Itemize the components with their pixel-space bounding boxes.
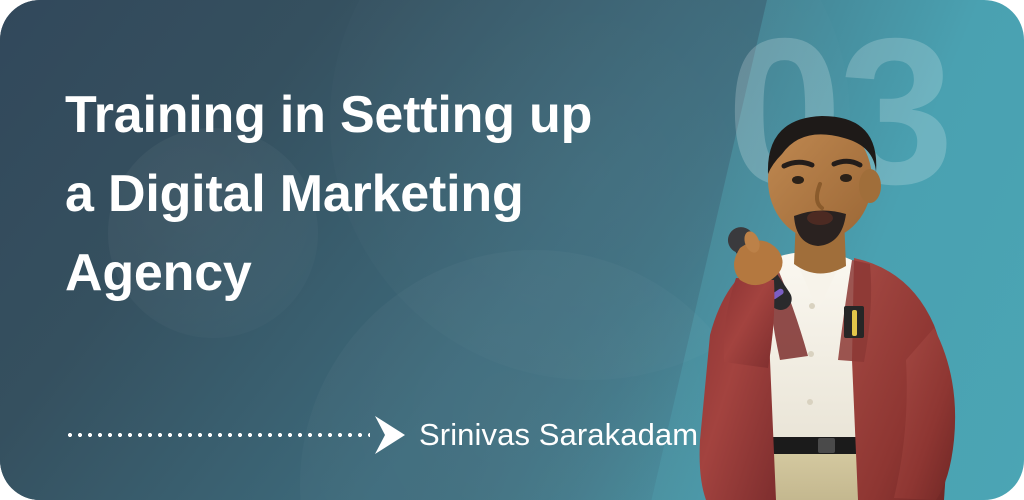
presenter-name: Srinivas Sarakadam xyxy=(419,417,698,453)
byline: Srinivas Sarakadam xyxy=(65,412,698,458)
page-title: Training in Setting up a Digital Marketi… xyxy=(65,76,685,313)
slide-root: 03 xyxy=(0,0,1024,500)
slide-card: 03 xyxy=(0,0,1024,500)
dotted-line xyxy=(65,432,370,438)
arrow-right-icon xyxy=(371,412,409,458)
section-number-watermark: 03 xyxy=(727,8,950,216)
